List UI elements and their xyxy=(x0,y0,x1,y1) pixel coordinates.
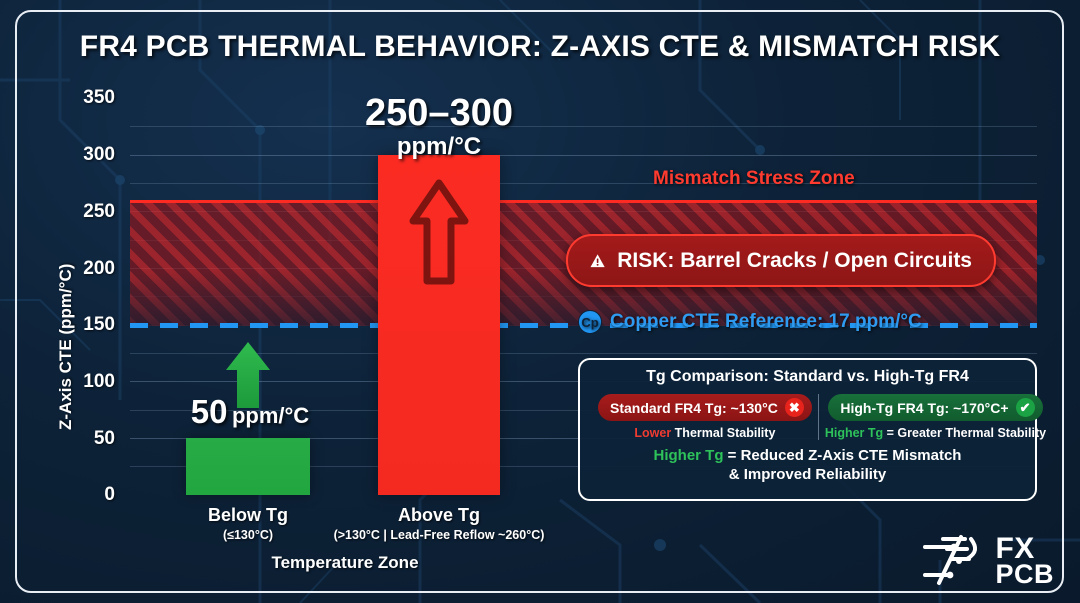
standard-fr4-rest: Thermal Stability xyxy=(671,426,775,440)
check-icon: ✔ xyxy=(1016,398,1035,417)
comparison-columns: Standard FR4 Tg: ~130°C ✖ Lower Thermal … xyxy=(592,394,1023,440)
up-arrow-icon xyxy=(409,177,469,287)
y-tick-300: 300 xyxy=(45,144,115,166)
copper-reference-text: Copper CTE Reference: 17 ppm/°C xyxy=(610,311,922,333)
copper-reference-label: Cp Copper CTE Reference: 17 ppm/°C xyxy=(578,310,922,334)
comparison-footer-rest: = Reduced Z-Axis CTE Mismatch xyxy=(724,447,962,464)
y-tick-350: 350 xyxy=(45,87,115,109)
tg-comparison-box: Tg Comparison: Standard vs. High-Tg FR4 … xyxy=(578,358,1037,501)
y-tick-200: 200 xyxy=(45,258,115,280)
x-category-label: Above Tg xyxy=(299,505,579,526)
y-tick-100: 100 xyxy=(45,371,115,393)
high-tg-fr4-rest: = Greater Thermal Stability xyxy=(883,426,1046,440)
standard-fr4-accent: Lower xyxy=(634,426,671,440)
y-axis-title: Z-Axis CTE (ppm/°C) xyxy=(56,264,76,430)
x-category-sublabel: (>130°C | Lead-Free Reflow ~260°C) xyxy=(299,528,579,542)
warning-triangle-icon xyxy=(590,247,605,275)
high-tg-fr4-accent: Higher Tg xyxy=(825,426,883,440)
logo-text: FX PCB xyxy=(995,535,1054,587)
value-number: 50 xyxy=(191,393,228,430)
high-tg-fr4-pill: High-Tg FR4 Tg: ~170°C+ ✔ xyxy=(828,394,1042,421)
fxpcb-logo: FX PCB xyxy=(921,533,1054,589)
standard-fr4-pill: Standard FR4 Tg: ~130°C ✖ xyxy=(598,394,812,421)
high-tg-fr4-pill-label: High-Tg FR4 Tg: ~170°C+ xyxy=(840,400,1008,416)
gridline xyxy=(130,126,1037,127)
circuit-trace-logo-icon xyxy=(921,533,991,589)
value-number: 250–300 xyxy=(311,94,567,134)
bar-below-tg xyxy=(186,438,310,495)
y-tick-50: 50 xyxy=(45,428,115,450)
value-unit: ppm/°C xyxy=(232,403,309,428)
high-tg-fr4-subtext: Higher Tg = Greater Thermal Stability xyxy=(825,426,1046,440)
gridline xyxy=(130,155,1037,156)
comparison-footer: Higher Tg = Reduced Z-Axis CTE Mismatch … xyxy=(592,447,1023,485)
risk-text: RISK: Barrel Cracks / Open Circuits xyxy=(617,249,972,273)
y-tick-150: 150 xyxy=(45,314,115,336)
cp-badge-icon: Cp xyxy=(578,310,602,334)
standard-fr4-subtext: Lower Thermal Stability xyxy=(598,426,812,440)
comparison-footer-line2: & Improved Reliability xyxy=(592,466,1023,485)
value-unit: ppm/°C xyxy=(311,134,567,159)
comparison-footer-line1: Higher Tg = Reduced Z-Axis CTE Mismatch xyxy=(592,447,1023,466)
cross-icon: ✖ xyxy=(785,398,804,417)
comparison-footer-accent: Higher Tg xyxy=(654,447,724,464)
bar-value-label-above-tg: 250–300 ppm/°C xyxy=(311,94,567,159)
y-tick-0: 0 xyxy=(45,484,115,506)
x-category-above-tg: Above Tg (>130°C | Lead-Free Reflow ~260… xyxy=(299,505,579,542)
x-axis-title: Temperature Zone xyxy=(130,553,560,573)
standard-fr4-pill-label: Standard FR4 Tg: ~130°C xyxy=(610,400,778,416)
stress-zone-label: Mismatch Stress Zone xyxy=(653,168,855,190)
comparison-col-standard: Standard FR4 Tg: ~130°C ✖ Lower Thermal … xyxy=(592,394,819,440)
risk-banner: RISK: Barrel Cracks / Open Circuits xyxy=(566,234,996,287)
logo-line-2: PCB xyxy=(995,562,1054,587)
gridline xyxy=(130,183,1037,184)
y-tick-250: 250 xyxy=(45,201,115,223)
bar-value-label-below-tg: 50 ppm/°C xyxy=(150,393,350,431)
comparison-title: Tg Comparison: Standard vs. High-Tg FR4 xyxy=(592,368,1023,386)
comparison-col-hightg: High-Tg FR4 Tg: ~170°C+ ✔ Higher Tg = Gr… xyxy=(819,394,1052,440)
infographic-canvas: FR4 PCB THERMAL BEHAVIOR: Z-AXIS CTE & M… xyxy=(0,0,1080,603)
bar-above-tg xyxy=(378,155,500,495)
page-title: FR4 PCB THERMAL BEHAVIOR: Z-AXIS CTE & M… xyxy=(0,30,1080,64)
